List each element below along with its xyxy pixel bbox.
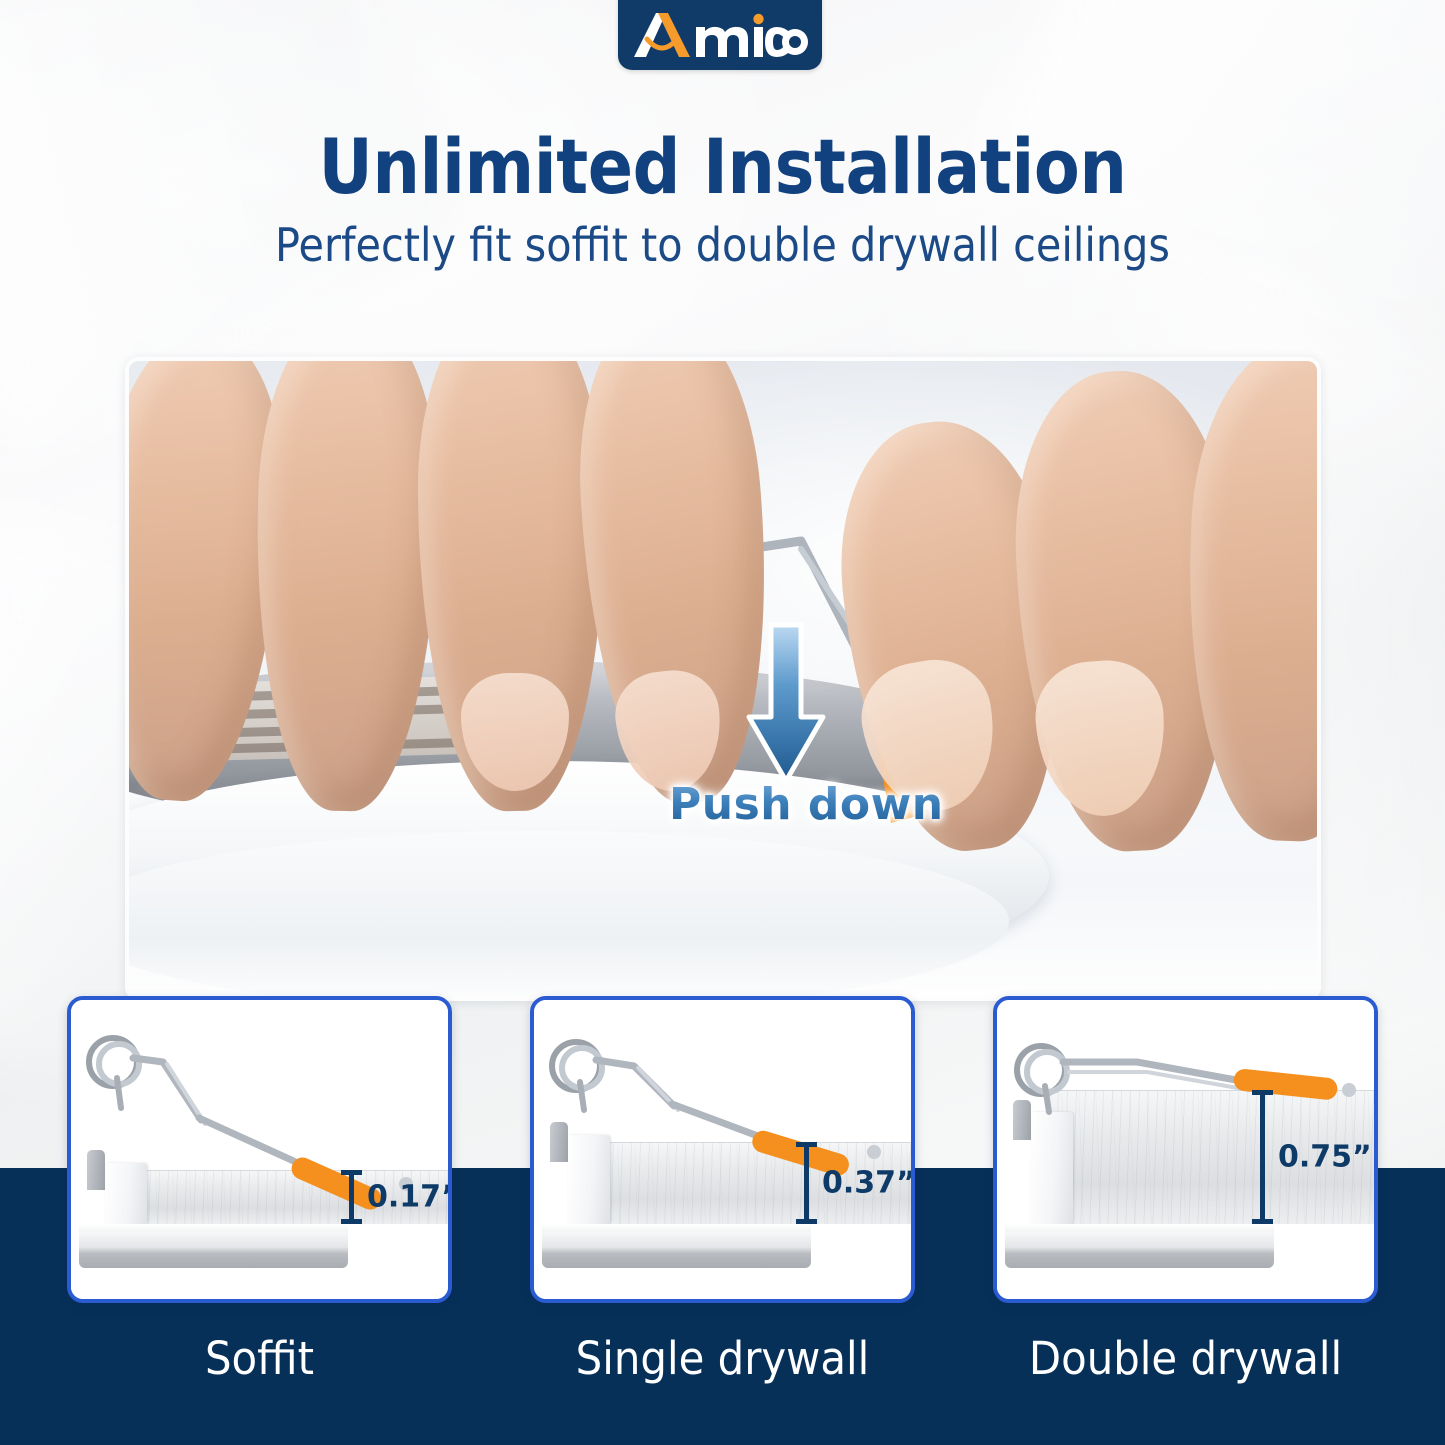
down-arrow-icon <box>743 621 829 791</box>
caption-double-drywall: Double drywall <box>1006 1332 1364 1385</box>
spring-clip-diagram <box>71 1000 452 1303</box>
panel-single-drywall: 0.37” <box>530 996 915 1303</box>
amico-logo-icon <box>632 13 808 57</box>
dimension-value: 0.37” <box>822 1166 915 1201</box>
panel-double-drywall: 0.75” <box>993 996 1378 1303</box>
dimension-value: 0.17” <box>367 1180 452 1215</box>
page-subheadline: Perfectly fit soffit to double drywall c… <box>72 218 1373 272</box>
spring-clip-diagram <box>534 1000 915 1303</box>
caption-single-drywall: Single drywall <box>543 1332 901 1385</box>
dimension-value: 0.75” <box>1278 1140 1372 1175</box>
hero-photo: Push down <box>125 357 1321 1001</box>
marketing-infographic: Unlimited Installation Perfectly fit sof… <box>0 0 1445 1445</box>
page-headline: Unlimited Installation <box>87 122 1359 211</box>
push-down-label: Push down <box>669 779 944 830</box>
caption-soffit: Soffit <box>80 1332 438 1385</box>
left-hand <box>125 357 829 841</box>
panel-soffit: 0.17” <box>67 996 452 1303</box>
brand-logo-badge <box>618 0 822 70</box>
